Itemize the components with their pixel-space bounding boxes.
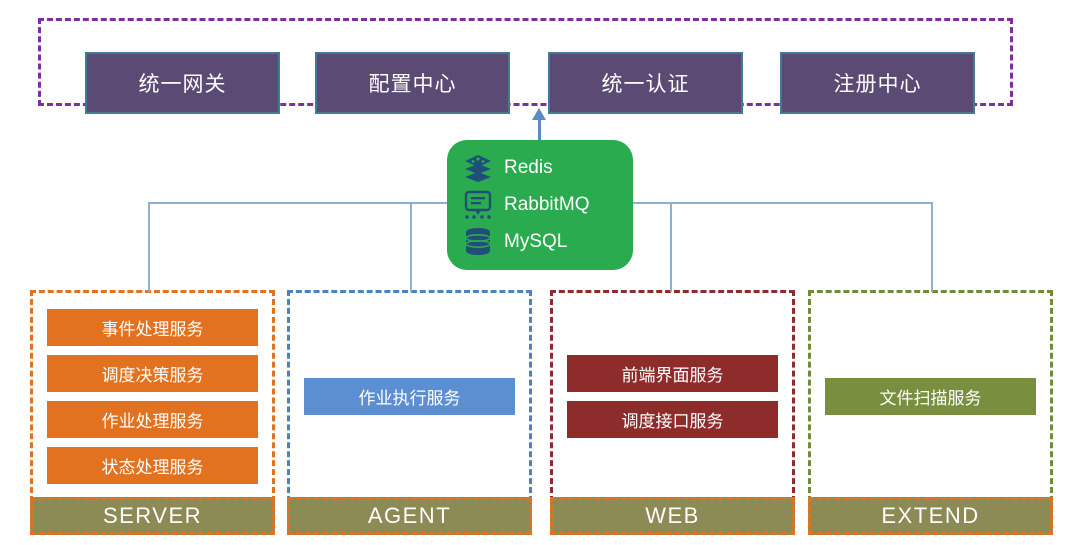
service-box-server-2[interactable]: 作业处理服务 [47, 401, 258, 438]
platform-box-1[interactable]: 配置中心 [315, 52, 510, 114]
drop-line-agent [410, 202, 412, 292]
module-services-web: 前端界面服务 调度接口服务 [553, 293, 792, 499]
database-cylinder-icon [461, 226, 495, 258]
platform-box-label-3: 注册中心 [834, 68, 922, 98]
architecture-diagram: 统一网关 配置中心 统一认证 注册中心 [0, 0, 1080, 545]
module-zone-agent: 作业执行服务 [287, 290, 532, 502]
service-label-agent-0: 作业执行服务 [359, 384, 461, 409]
module-label-text-server: SERVER [103, 503, 202, 529]
middleware-label-redis: Redis [504, 157, 553, 179]
service-box-extend-0[interactable]: 文件扫描服务 [825, 378, 1036, 415]
drop-line-web [670, 202, 672, 292]
bus-line-right [632, 202, 932, 204]
module-label-web: WEB [550, 497, 795, 535]
module-services-agent: 作业执行服务 [290, 293, 529, 499]
module-label-agent: AGENT [287, 497, 532, 535]
platform-layer-zone: 统一网关 配置中心 统一认证 注册中心 [38, 18, 1013, 106]
service-box-server-1[interactable]: 调度决策服务 [47, 355, 258, 392]
module-zone-server: 事件处理服务 调度决策服务 作业处理服务 状态处理服务 [30, 290, 275, 502]
service-label-server-0: 事件处理服务 [102, 315, 204, 340]
module-zone-web: 前端界面服务 调度接口服务 [550, 290, 795, 502]
message-bubble-icon [461, 189, 495, 221]
middleware-label-mysql: MySQL [504, 231, 567, 253]
module-label-extend: EXTEND [808, 497, 1053, 535]
platform-box-3[interactable]: 注册中心 [780, 52, 975, 114]
middleware-item-mysql[interactable]: MySQL [447, 224, 633, 260]
service-box-web-0[interactable]: 前端界面服务 [567, 355, 778, 392]
module-services-server: 事件处理服务 调度决策服务 作业处理服务 状态处理服务 [33, 293, 272, 499]
service-label-server-3: 状态处理服务 [102, 453, 204, 478]
service-label-web-0: 前端界面服务 [622, 361, 724, 386]
service-box-web-1[interactable]: 调度接口服务 [567, 401, 778, 438]
platform-box-label-1: 配置中心 [369, 68, 457, 98]
service-label-server-1: 调度决策服务 [102, 361, 204, 386]
platform-box-label-0: 统一网关 [139, 68, 227, 98]
module-label-text-agent: AGENT [368, 503, 451, 529]
arrow-up-line [538, 118, 541, 142]
platform-box-2[interactable]: 统一认证 [548, 52, 743, 114]
drop-line-server [148, 202, 150, 292]
service-label-extend-0: 文件扫描服务 [880, 384, 982, 409]
service-label-server-2: 作业处理服务 [102, 407, 204, 432]
layers-stack-icon [461, 152, 495, 184]
service-box-server-3[interactable]: 状态处理服务 [47, 447, 258, 484]
module-label-text-web: WEB [645, 503, 700, 529]
service-box-agent-0[interactable]: 作业执行服务 [304, 378, 515, 415]
bus-line-left [148, 202, 448, 204]
module-services-extend: 文件扫描服务 [811, 293, 1050, 499]
service-label-web-1: 调度接口服务 [622, 407, 724, 432]
platform-box-label-2: 统一认证 [602, 68, 690, 98]
service-box-server-0[interactable]: 事件处理服务 [47, 309, 258, 346]
module-label-text-extend: EXTEND [881, 503, 979, 529]
module-zone-extend: 文件扫描服务 [808, 290, 1053, 502]
middleware-box[interactable]: Redis RabbitMQ [447, 140, 633, 270]
drop-line-extend [931, 202, 933, 292]
middleware-item-redis[interactable]: Redis [447, 150, 633, 186]
platform-box-0[interactable]: 统一网关 [85, 52, 280, 114]
middleware-item-rabbitmq[interactable]: RabbitMQ [447, 187, 633, 223]
middleware-label-rabbitmq: RabbitMQ [504, 194, 590, 216]
module-label-server: SERVER [30, 497, 275, 535]
